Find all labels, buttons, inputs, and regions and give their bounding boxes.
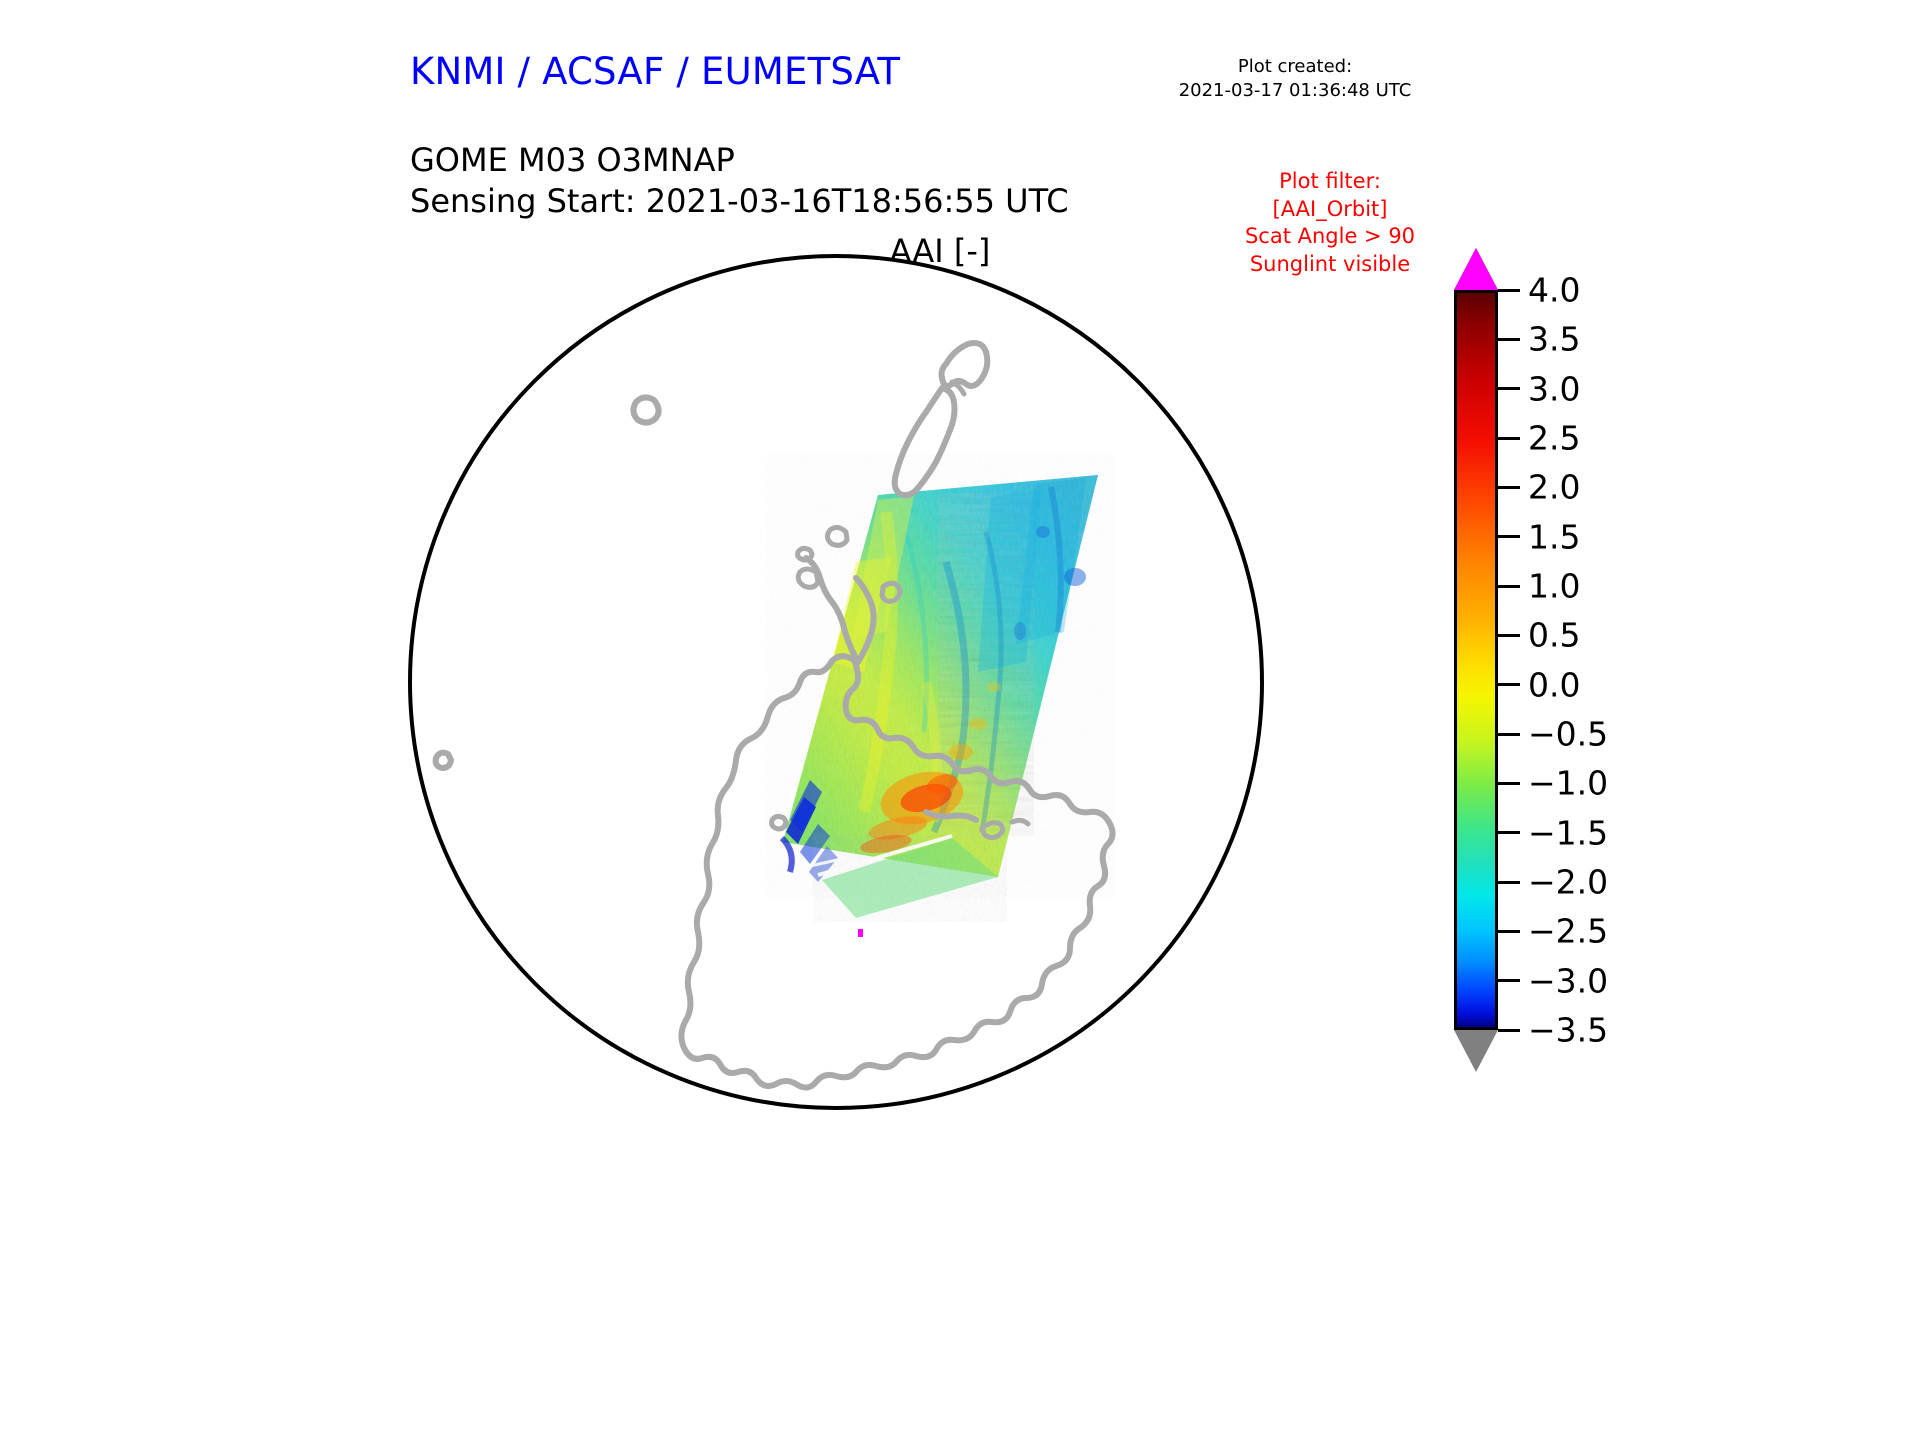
colorbar-under-range-arrow: [1454, 1030, 1498, 1072]
colorbar-tick-label: −3.5: [1528, 1011, 1608, 1050]
colorbar-tick-label: −2.5: [1528, 912, 1608, 951]
map-graphics: [386, 232, 1286, 1132]
plot-created-label: Plot created:: [1140, 55, 1450, 79]
colorbar-tick-mark: [1498, 535, 1520, 538]
organisation-title: KNMI / ACSAF / EUMETSAT: [410, 50, 900, 93]
plot-filter-product: [AAI_Orbit]: [1180, 196, 1480, 224]
colorbar-tick-label: −2.0: [1528, 863, 1608, 902]
colorbar-tick-mark: [1498, 683, 1520, 686]
over-range-pixel: [858, 929, 863, 937]
colorbar-tick-label: 4.0: [1528, 271, 1580, 310]
sensing-start: Sensing Start: 2021-03-16T18:56:55 UTC: [410, 181, 1069, 222]
colorbar-over-range-arrow: [1454, 248, 1498, 290]
colorbar-tick-label: −3.0: [1528, 961, 1608, 1000]
plot-created-timestamp: 2021-03-17 01:36:48 UTC: [1140, 79, 1450, 103]
colorbar-tick-mark: [1498, 782, 1520, 785]
colorbar-tick-mark: [1498, 437, 1520, 440]
colorbar-tick-label: −0.5: [1528, 715, 1608, 754]
colorbar-tick-mark: [1498, 979, 1520, 982]
colorbar-tick-label: 0.5: [1528, 616, 1580, 655]
colorbar-tick-label: 1.0: [1528, 567, 1580, 606]
colorbar-tick-mark: [1498, 338, 1520, 341]
colorbar-tick-label: −1.5: [1528, 813, 1608, 852]
colorbar-tick-label: 1.5: [1528, 517, 1580, 556]
colorbar-tick-mark: [1498, 634, 1520, 637]
colorbar[interactable]: 4.03.53.02.52.01.51.00.50.0−0.5−1.0−1.5−…: [1440, 236, 1770, 1096]
colorbar-tick-mark: [1498, 930, 1520, 933]
colorbar-tick-label: 2.5: [1528, 419, 1580, 458]
colorbar-tick-mark: [1498, 733, 1520, 736]
colorbar-tick-mark: [1498, 486, 1520, 489]
colorbar-tick-mark: [1498, 1029, 1520, 1032]
colorbar-tick-label: 2.0: [1528, 468, 1580, 507]
plot-filter-label: Plot filter:: [1180, 168, 1480, 196]
colorbar-gradient: [1454, 290, 1498, 1030]
colorbar-tick-mark: [1498, 387, 1520, 390]
colorbar-tick-label: 0.0: [1528, 665, 1580, 704]
colorbar-tick-mark: [1498, 289, 1520, 292]
map-plot-area[interactable]: [386, 232, 1286, 1132]
colorbar-tick-label: 3.5: [1528, 320, 1580, 359]
colorbar-tick-label: 3.0: [1528, 369, 1580, 408]
plot-created-block: Plot created: 2021-03-17 01:36:48 UTC: [1140, 55, 1450, 104]
colorbar-tick-mark: [1498, 585, 1520, 588]
colorbar-tick-mark: [1498, 881, 1520, 884]
colorbar-tick-mark: [1498, 831, 1520, 834]
colorbar-tick-label: −1.0: [1528, 764, 1608, 803]
product-name: GOME M03 O3MNAP: [410, 140, 1069, 181]
product-info-block: GOME M03 O3MNAP Sensing Start: 2021-03-1…: [410, 140, 1069, 222]
